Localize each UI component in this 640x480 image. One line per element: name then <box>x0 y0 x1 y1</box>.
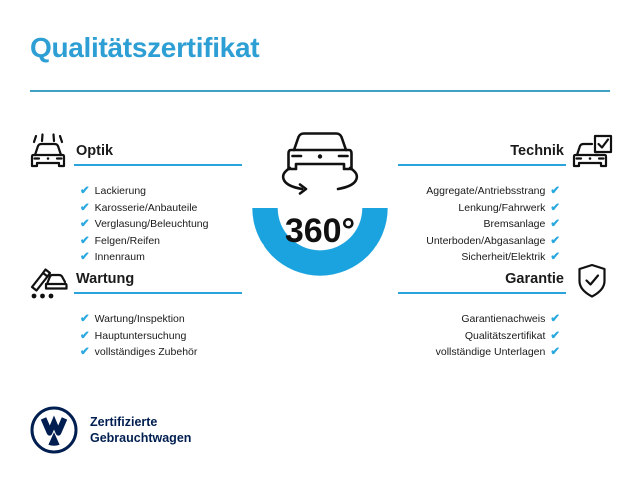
section-optik-underline <box>74 164 242 166</box>
section-wartung-title-wrap: Wartung <box>74 258 242 294</box>
section-technik-header: Technik <box>398 130 618 176</box>
list-item-label: Karosserie/Anbauteile <box>95 200 198 217</box>
check-icon: ✔ <box>80 183 90 200</box>
check-icon: ✔ <box>550 328 560 345</box>
list-item: ✔Hauptuntersuchung <box>80 328 242 345</box>
section-technik: Technik ✔Aggregate/Antriebsstrang ✔Lenku… <box>398 130 618 266</box>
section-optik-title-wrap: Optik <box>74 130 242 166</box>
list-item-label: Hauptuntersuchung <box>95 328 187 345</box>
badge-center-label: 360° <box>285 212 355 250</box>
car-checkbox-icon <box>566 130 618 176</box>
check-icon: ✔ <box>80 311 90 328</box>
list-item: ✔Wartung/Inspektion <box>80 311 242 328</box>
list-item: ✔vollständiges Zubehör <box>80 344 242 361</box>
check-icon: ✔ <box>550 311 560 328</box>
gebrauchtwagen-check-badge: Gebrauchtwagen-Check 360° <box>224 112 416 320</box>
section-technik-title-wrap: Technik <box>398 130 566 166</box>
section-technik-list: ✔Aggregate/Antriebsstrang ✔Lenkung/Fahrw… <box>398 183 618 266</box>
check-icon: ✔ <box>80 344 90 361</box>
check-icon: ✔ <box>80 200 90 217</box>
list-item: ✔Lackierung <box>80 183 242 200</box>
page-title: Qualitätszertifikat <box>30 34 259 62</box>
section-technik-title: Technik <box>398 144 566 164</box>
check-icon: ✔ <box>550 183 560 200</box>
check-icon: ✔ <box>80 328 90 345</box>
list-item: ✔Bremsanlage <box>398 216 560 233</box>
list-item-label: Verglasung/Beleuchtung <box>95 216 209 233</box>
certificate-page: Qualitätszertifikat Optik <box>0 0 640 480</box>
section-optik: Optik ✔Lackierung ✔Karosserie/Anbauteile… <box>22 130 242 266</box>
list-item-label: Unterboden/Abgasanlage <box>426 233 545 250</box>
section-garantie-underline <box>398 292 566 294</box>
section-garantie-title: Garantie <box>398 272 566 292</box>
section-optik-list: ✔Lackierung ✔Karosserie/Anbauteile ✔Verg… <box>22 183 242 266</box>
list-item: ✔Aggregate/Antriebsstrang <box>398 183 560 200</box>
footer-line-2: Gebrauchtwagen <box>90 430 191 446</box>
section-optik-header: Optik <box>22 130 242 176</box>
check-icon: ✔ <box>550 200 560 217</box>
section-optik-title: Optik <box>74 144 242 164</box>
section-wartung: Wartung ✔Wartung/Inspektion ✔Hauptunters… <box>22 258 242 361</box>
check-icon: ✔ <box>550 233 560 250</box>
section-garantie-header: Garantie <box>398 258 618 304</box>
list-item: ✔vollständige Unterlagen <box>398 344 560 361</box>
section-wartung-list: ✔Wartung/Inspektion ✔Hauptuntersuchung ✔… <box>22 311 242 361</box>
list-item: ✔Felgen/Reifen <box>80 233 242 250</box>
car-shine-icon <box>22 130 74 176</box>
list-item-label: Lenkung/Fahrwerk <box>458 200 545 217</box>
list-item-label: Garantienachweis <box>461 311 545 328</box>
footer-text: Zertifizierte Gebrauchtwagen <box>90 414 191 446</box>
footer-branding: Zertifizierte Gebrauchtwagen <box>30 406 191 454</box>
shield-check-icon <box>566 258 618 304</box>
section-garantie-list: ✔Garantienachweis ✔Qualitätszertifikat ✔… <box>398 311 618 361</box>
list-item-label: vollständiges Zubehör <box>95 344 198 361</box>
vw-logo <box>30 406 78 454</box>
car-rotation-icon <box>283 134 357 194</box>
list-item-label: Aggregate/Antriebsstrang <box>426 183 545 200</box>
list-item-label: Lackierung <box>95 183 146 200</box>
list-item: ✔Verglasung/Beleuchtung <box>80 216 242 233</box>
list-item-label: vollständige Unterlagen <box>436 344 546 361</box>
section-garantie-title-wrap: Garantie <box>398 258 566 294</box>
check-icon: ✔ <box>80 216 90 233</box>
list-item: ✔Lenkung/Fahrwerk <box>398 200 560 217</box>
check-icon: ✔ <box>550 344 560 361</box>
list-item: ✔Qualitätszertifikat <box>398 328 560 345</box>
list-item-label: Qualitätszertifikat <box>465 328 546 345</box>
check-icon: ✔ <box>550 216 560 233</box>
section-wartung-underline <box>74 292 242 294</box>
list-item-label: Bremsanlage <box>483 216 545 233</box>
section-garantie: Garantie ✔Garantienachweis ✔Qualitätszer… <box>398 258 618 361</box>
section-wartung-header: Wartung <box>22 258 242 304</box>
list-item: ✔Unterboden/Abgasanlage <box>398 233 560 250</box>
list-item-label: Wartung/Inspektion <box>95 311 185 328</box>
wrench-car-icon <box>22 258 74 304</box>
section-wartung-title: Wartung <box>74 272 242 292</box>
check-icon: ✔ <box>80 233 90 250</box>
list-item-label: Felgen/Reifen <box>95 233 160 250</box>
list-item: ✔Karosserie/Anbauteile <box>80 200 242 217</box>
list-item: ✔Garantienachweis <box>398 311 560 328</box>
section-technik-underline <box>398 164 566 166</box>
header-divider <box>30 90 610 92</box>
footer-line-1: Zertifizierte <box>90 414 191 430</box>
